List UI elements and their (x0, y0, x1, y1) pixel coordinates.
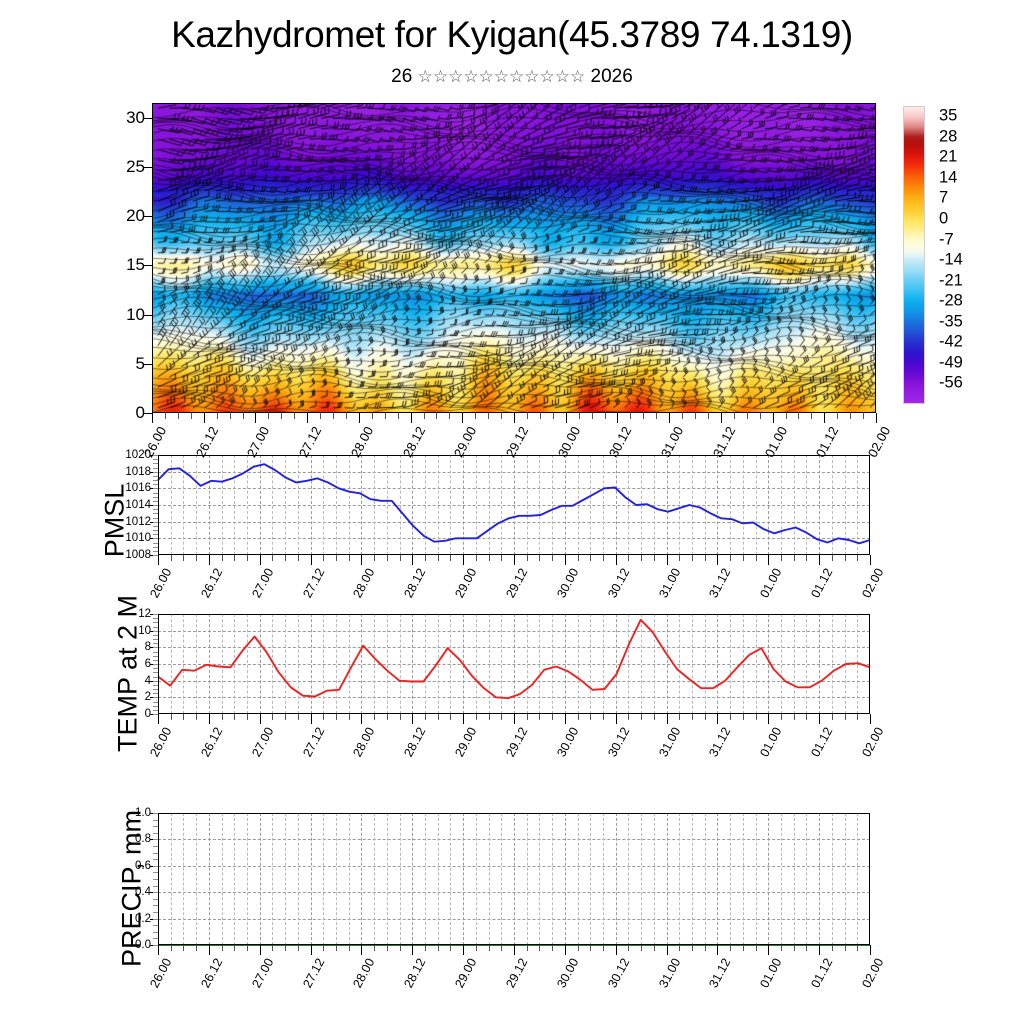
x-tick-minor (590, 714, 591, 720)
x-tick-minor (476, 555, 477, 561)
x-tick-minor (603, 714, 604, 720)
y-tick-minor (153, 912, 158, 913)
y-tick-label: 12 (138, 608, 151, 620)
x-tick-label: 31.12 (707, 566, 734, 600)
y-tick-minor (153, 886, 158, 887)
x-tick-label: 01.12 (808, 956, 835, 990)
x-tick-label: 28.00 (351, 956, 378, 990)
x-tick-minor (489, 945, 490, 951)
x-tick-minor (641, 555, 642, 561)
x-tick-major (260, 945, 261, 955)
subtitle-day: 26 (391, 66, 412, 87)
y-tick-minor (153, 484, 158, 485)
x-tick-major (361, 945, 362, 955)
x-tick-major (260, 555, 261, 565)
x-tick-major (307, 413, 308, 423)
x-tick-minor (320, 413, 321, 419)
x-tick-minor (705, 555, 706, 561)
y-tick-label: 1020 (125, 449, 151, 461)
colorbar-tick-label: -49 (939, 353, 963, 372)
y-tick-label: 5 (136, 354, 145, 374)
y-tick-label: 15 (126, 255, 145, 275)
x-tick-major (768, 945, 769, 955)
x-tick-minor (171, 945, 172, 951)
y-tick-label: 1008 (125, 549, 151, 561)
x-tick-minor (489, 714, 490, 720)
colorbar-tick-label: -35 (939, 312, 963, 331)
x-tick-label: 27.00 (249, 956, 276, 990)
x-tick-minor (628, 945, 629, 951)
x-tick-minor (281, 413, 282, 419)
y-tick-label: 1.0 (135, 807, 151, 819)
y-tick-label: 0.2 (135, 913, 151, 925)
x-tick-minor (679, 945, 680, 951)
x-tick-minor (247, 714, 248, 720)
x-tick-label: 30.12 (605, 725, 632, 759)
x-tick-major (616, 555, 617, 565)
x-tick-minor (760, 413, 761, 419)
x-tick-major (876, 413, 877, 423)
x-tick-minor (450, 555, 451, 561)
x-tick-minor (501, 555, 502, 561)
x-tick-major (152, 413, 153, 423)
x-tick-minor (183, 945, 184, 951)
x-tick-label: 01.00 (758, 725, 785, 759)
x-tick-major (158, 945, 159, 955)
y-tick-mark (144, 265, 152, 266)
x-tick-major (669, 413, 670, 423)
x-tick-minor (217, 413, 218, 419)
y-tick-minor (153, 538, 158, 539)
y-tick-label: 0 (136, 403, 145, 423)
x-tick-minor (285, 714, 286, 720)
x-tick-minor (527, 555, 528, 561)
y-tick-minor (153, 547, 158, 548)
x-tick-minor (679, 714, 680, 720)
x-tick-major (721, 413, 722, 423)
temp-panel: 02468101226.0026.1227.0027.1228.0028.122… (158, 614, 870, 714)
y-tick-minor (153, 631, 158, 632)
y-tick-label: 1018 (125, 466, 151, 478)
x-tick-minor (708, 413, 709, 419)
x-tick-minor (705, 945, 706, 951)
y-tick-minor (153, 647, 158, 648)
x-tick-major (462, 413, 463, 423)
x-tick-minor (527, 714, 528, 720)
x-tick-label: 26.12 (198, 956, 225, 990)
x-tick-minor (605, 413, 606, 419)
x-tick-minor (806, 945, 807, 951)
x-tick-label: 28.12 (402, 725, 429, 759)
x-tick-label: 02.00 (859, 956, 886, 990)
colorbar-tick-label: 21 (939, 148, 957, 167)
y-tick-minor (153, 639, 158, 640)
x-tick-major (870, 714, 871, 724)
y-tick-minor (153, 668, 158, 669)
y-tick-label: 30 (126, 108, 145, 128)
x-tick-minor (781, 945, 782, 951)
x-tick-minor (643, 413, 644, 419)
x-tick-minor (579, 413, 580, 419)
y-tick-minor (153, 710, 158, 711)
x-tick-major (870, 945, 871, 955)
x-tick-minor (730, 714, 731, 720)
y-tick-minor (153, 656, 158, 657)
y-tick-minor (153, 627, 158, 628)
x-tick-minor (272, 945, 273, 951)
x-tick-minor (850, 413, 851, 419)
colorbar-tick-label: 28 (939, 127, 957, 146)
y-tick-minor (153, 543, 158, 544)
x-tick-minor (272, 714, 273, 720)
x-tick-major (255, 413, 256, 423)
x-tick-minor (400, 945, 401, 951)
x-tick-minor (372, 413, 373, 419)
x-tick-minor (243, 413, 244, 419)
x-tick-major (463, 714, 464, 724)
y-tick-minor (153, 530, 158, 531)
x-tick-minor (191, 413, 192, 419)
x-tick-minor (336, 555, 337, 561)
y-tick-label: 0.8 (135, 833, 151, 845)
x-tick-minor (374, 714, 375, 720)
x-tick-minor (501, 945, 502, 951)
x-tick-label: 28.12 (402, 956, 429, 990)
x-tick-label: 30.00 (554, 956, 581, 990)
x-tick-minor (400, 714, 401, 720)
y-tick-minor (153, 820, 158, 821)
x-tick-minor (336, 714, 337, 720)
x-tick-minor (298, 945, 299, 951)
x-tick-minor (222, 714, 223, 720)
x-tick-minor (832, 555, 833, 561)
y-tick-minor (153, 833, 158, 834)
x-tick-minor (476, 714, 477, 720)
y-tick-minor (153, 905, 158, 906)
x-tick-minor (794, 945, 795, 951)
x-tick-major (819, 945, 820, 955)
x-tick-minor (527, 413, 528, 419)
colorbar-tick-label: -7 (939, 230, 954, 249)
x-tick-minor (387, 714, 388, 720)
x-tick-minor (234, 555, 235, 561)
y-tick-label: 1012 (125, 516, 151, 528)
x-tick-minor (743, 945, 744, 951)
x-tick-label: 30.12 (605, 566, 632, 600)
x-tick-label: 29.12 (503, 725, 530, 759)
colorbar-tick-label: 35 (939, 107, 957, 126)
x-tick-minor (628, 714, 629, 720)
x-tick-minor (603, 945, 604, 951)
y-tick-minor (153, 518, 158, 519)
x-tick-label: 01.12 (808, 725, 835, 759)
x-tick-label: 27.12 (300, 956, 327, 990)
y-tick-label: 1010 (125, 532, 151, 544)
x-tick-minor (230, 413, 231, 419)
x-tick-minor (183, 714, 184, 720)
x-tick-minor (806, 555, 807, 561)
y-tick-minor (153, 872, 158, 873)
y-tick-label: 0.4 (135, 886, 151, 898)
x-tick-minor (346, 413, 347, 419)
y-tick-minor (153, 664, 158, 665)
x-tick-label: 30.12 (605, 956, 632, 990)
x-tick-minor (756, 714, 757, 720)
x-tick-major (412, 555, 413, 565)
x-tick-minor (178, 413, 179, 419)
y-tick-minor (153, 505, 158, 506)
x-tick-minor (247, 945, 248, 951)
x-tick-minor (603, 555, 604, 561)
x-tick-minor (425, 714, 426, 720)
x-tick-major (717, 714, 718, 724)
x-tick-minor (171, 714, 172, 720)
y-tick-minor (153, 652, 158, 653)
x-tick-minor (501, 714, 502, 720)
y-tick-label: 1014 (125, 499, 151, 511)
x-tick-minor (450, 945, 451, 951)
colorbar-tick-label: -28 (939, 292, 963, 311)
x-tick-major (565, 714, 566, 724)
x-tick-label: 01.00 (758, 566, 785, 600)
x-tick-major (514, 555, 515, 565)
x-tick-minor (679, 555, 680, 561)
y-tick-minor (153, 455, 158, 456)
y-tick-minor (153, 509, 158, 510)
x-tick-major (514, 945, 515, 955)
x-tick-minor (641, 945, 642, 951)
x-tick-minor (539, 555, 540, 561)
x-tick-minor (539, 714, 540, 720)
x-tick-label: 27.00 (249, 566, 276, 600)
x-tick-minor (730, 555, 731, 561)
y-tick-minor (153, 919, 158, 920)
x-tick-minor (247, 555, 248, 561)
x-tick-major (773, 413, 774, 423)
x-tick-minor (756, 945, 757, 951)
x-tick-minor (450, 714, 451, 720)
x-tick-minor (349, 555, 350, 561)
y-tick-label: 20 (126, 206, 145, 226)
x-tick-minor (730, 945, 731, 951)
x-tick-label: 30.00 (554, 566, 581, 600)
x-tick-major (514, 714, 515, 724)
x-tick-label: 26.12 (198, 725, 225, 759)
page-title: Kazhydromet for Kyigan(45.3789 74.1319) (0, 14, 1024, 56)
x-tick-major (819, 555, 820, 565)
cross-section-panel: 05101520253026.0026.1227.0027.1228.0028.… (152, 103, 876, 413)
x-tick-major (824, 413, 825, 423)
y-tick-minor (153, 702, 158, 703)
x-tick-minor (628, 555, 629, 561)
x-tick-major (209, 555, 210, 565)
x-tick-minor (553, 413, 554, 419)
y-tick-minor (153, 622, 158, 623)
x-tick-minor (837, 413, 838, 419)
x-tick-minor (268, 413, 269, 419)
x-tick-minor (527, 945, 528, 951)
y-tick-label: 0 (145, 708, 151, 720)
x-tick-minor (476, 945, 477, 951)
x-tick-minor (424, 413, 425, 419)
colorbar-tick-label: 7 (939, 189, 948, 208)
x-tick-minor (743, 555, 744, 561)
x-tick-label: 31.00 (656, 956, 683, 990)
x-tick-minor (400, 555, 401, 561)
x-tick-minor (323, 714, 324, 720)
y-tick-minor (153, 685, 158, 686)
colorbar: 3528211470-7-14-21-28-35-42-49-56 (903, 106, 925, 404)
x-tick-major (158, 714, 159, 724)
x-tick-minor (438, 945, 439, 951)
y-tick-minor (153, 859, 158, 860)
x-tick-minor (222, 945, 223, 951)
y-tick-mark (144, 315, 152, 316)
pmsl-frame (158, 455, 870, 555)
x-tick-minor (298, 714, 299, 720)
x-tick-major (311, 555, 312, 565)
cross-section-frame (152, 103, 876, 413)
colorbar-tick-label: 14 (939, 168, 957, 187)
x-tick-label: 28.00 (351, 566, 378, 600)
y-tick-minor (153, 672, 158, 673)
x-tick-minor (592, 413, 593, 419)
x-tick-minor (234, 714, 235, 720)
y-tick-minor (153, 488, 158, 489)
x-tick-minor (656, 413, 657, 419)
x-tick-major (411, 413, 412, 423)
x-tick-major (565, 945, 566, 955)
y-tick-label: 25 (126, 157, 145, 177)
x-tick-major (819, 714, 820, 724)
x-tick-minor (811, 413, 812, 419)
x-tick-major (463, 945, 464, 955)
colorbar-tick-label: -14 (939, 251, 963, 270)
colorbar-tick-label: 0 (939, 210, 948, 229)
x-tick-label: 29.00 (452, 566, 479, 600)
precip-frame (158, 813, 870, 945)
y-tick-minor (153, 879, 158, 880)
x-tick-minor (578, 714, 579, 720)
x-tick-minor (734, 413, 735, 419)
y-tick-minor (153, 660, 158, 661)
y-tick-label: 6 (145, 658, 151, 670)
y-tick-label: 8 (145, 641, 151, 653)
y-tick-mark (144, 118, 152, 119)
x-tick-minor (832, 945, 833, 951)
y-tick-label: 4 (145, 675, 151, 687)
x-tick-minor (590, 555, 591, 561)
x-tick-minor (794, 714, 795, 720)
y-tick-minor (153, 618, 158, 619)
x-tick-minor (832, 714, 833, 720)
x-tick-minor (705, 714, 706, 720)
precip-panel: 0.00.20.40.60.81.026.0026.1227.0027.1228… (158, 813, 870, 945)
y-tick-minor (153, 493, 158, 494)
x-tick-minor (196, 945, 197, 951)
y-tick-minor (153, 497, 158, 498)
x-tick-label: 26.12 (198, 566, 225, 600)
y-tick-minor (153, 472, 158, 473)
x-tick-label: 26.00 (147, 566, 174, 600)
x-tick-minor (272, 555, 273, 561)
x-tick-label: 01.12 (808, 566, 835, 600)
x-tick-minor (489, 555, 490, 561)
x-tick-minor (425, 945, 426, 951)
x-tick-label: 27.12 (300, 566, 327, 600)
x-tick-minor (756, 555, 757, 561)
x-tick-minor (590, 945, 591, 951)
x-tick-label: 29.12 (503, 566, 530, 600)
x-tick-minor (349, 714, 350, 720)
x-tick-major (260, 714, 261, 724)
y-tick-mark (144, 413, 152, 414)
x-tick-minor (682, 413, 683, 419)
x-tick-minor (196, 714, 197, 720)
y-tick-minor (153, 551, 158, 552)
x-tick-label: 28.00 (351, 725, 378, 759)
x-tick-minor (298, 555, 299, 561)
y-tick-minor (153, 459, 158, 460)
x-tick-minor (845, 714, 846, 720)
y-tick-label: 10 (126, 305, 145, 325)
temp-axis-title: TEMP at 2 M (113, 564, 144, 784)
x-tick-minor (654, 945, 655, 951)
x-tick-label: 02.00 (859, 725, 886, 759)
y-tick-mark (144, 364, 152, 365)
x-tick-minor (449, 413, 450, 419)
x-tick-label: 29.00 (452, 725, 479, 759)
x-tick-minor (692, 714, 693, 720)
x-tick-minor (781, 714, 782, 720)
y-tick-minor (153, 635, 158, 636)
x-tick-minor (794, 555, 795, 561)
y-tick-minor (153, 932, 158, 933)
x-tick-minor (695, 413, 696, 419)
x-tick-minor (425, 555, 426, 561)
x-tick-major (566, 413, 567, 423)
temp-frame (158, 614, 870, 714)
x-tick-major (361, 555, 362, 565)
x-tick-major (209, 945, 210, 955)
y-tick-minor (153, 689, 158, 690)
x-tick-major (616, 714, 617, 724)
y-tick-minor (153, 853, 158, 854)
x-tick-minor (857, 945, 858, 951)
x-tick-minor (781, 555, 782, 561)
x-tick-minor (438, 555, 439, 561)
x-tick-major (616, 945, 617, 955)
x-tick-minor (641, 714, 642, 720)
x-tick-label: 26.00 (147, 725, 174, 759)
x-tick-minor (285, 555, 286, 561)
x-tick-label: 02.00 (859, 566, 886, 600)
x-tick-minor (165, 413, 166, 419)
x-tick-major (768, 714, 769, 724)
x-tick-minor (539, 945, 540, 951)
x-tick-major (361, 714, 362, 724)
x-tick-label: 31.00 (656, 725, 683, 759)
y-tick-minor (153, 614, 158, 615)
x-tick-minor (540, 413, 541, 419)
colorbar-tick-label: -56 (939, 374, 963, 393)
y-tick-minor (153, 925, 158, 926)
x-tick-minor (692, 555, 693, 561)
x-tick-minor (857, 714, 858, 720)
y-tick-label: 10 (138, 625, 151, 637)
x-tick-label: 31.00 (656, 566, 683, 600)
y-tick-minor (153, 681, 158, 682)
